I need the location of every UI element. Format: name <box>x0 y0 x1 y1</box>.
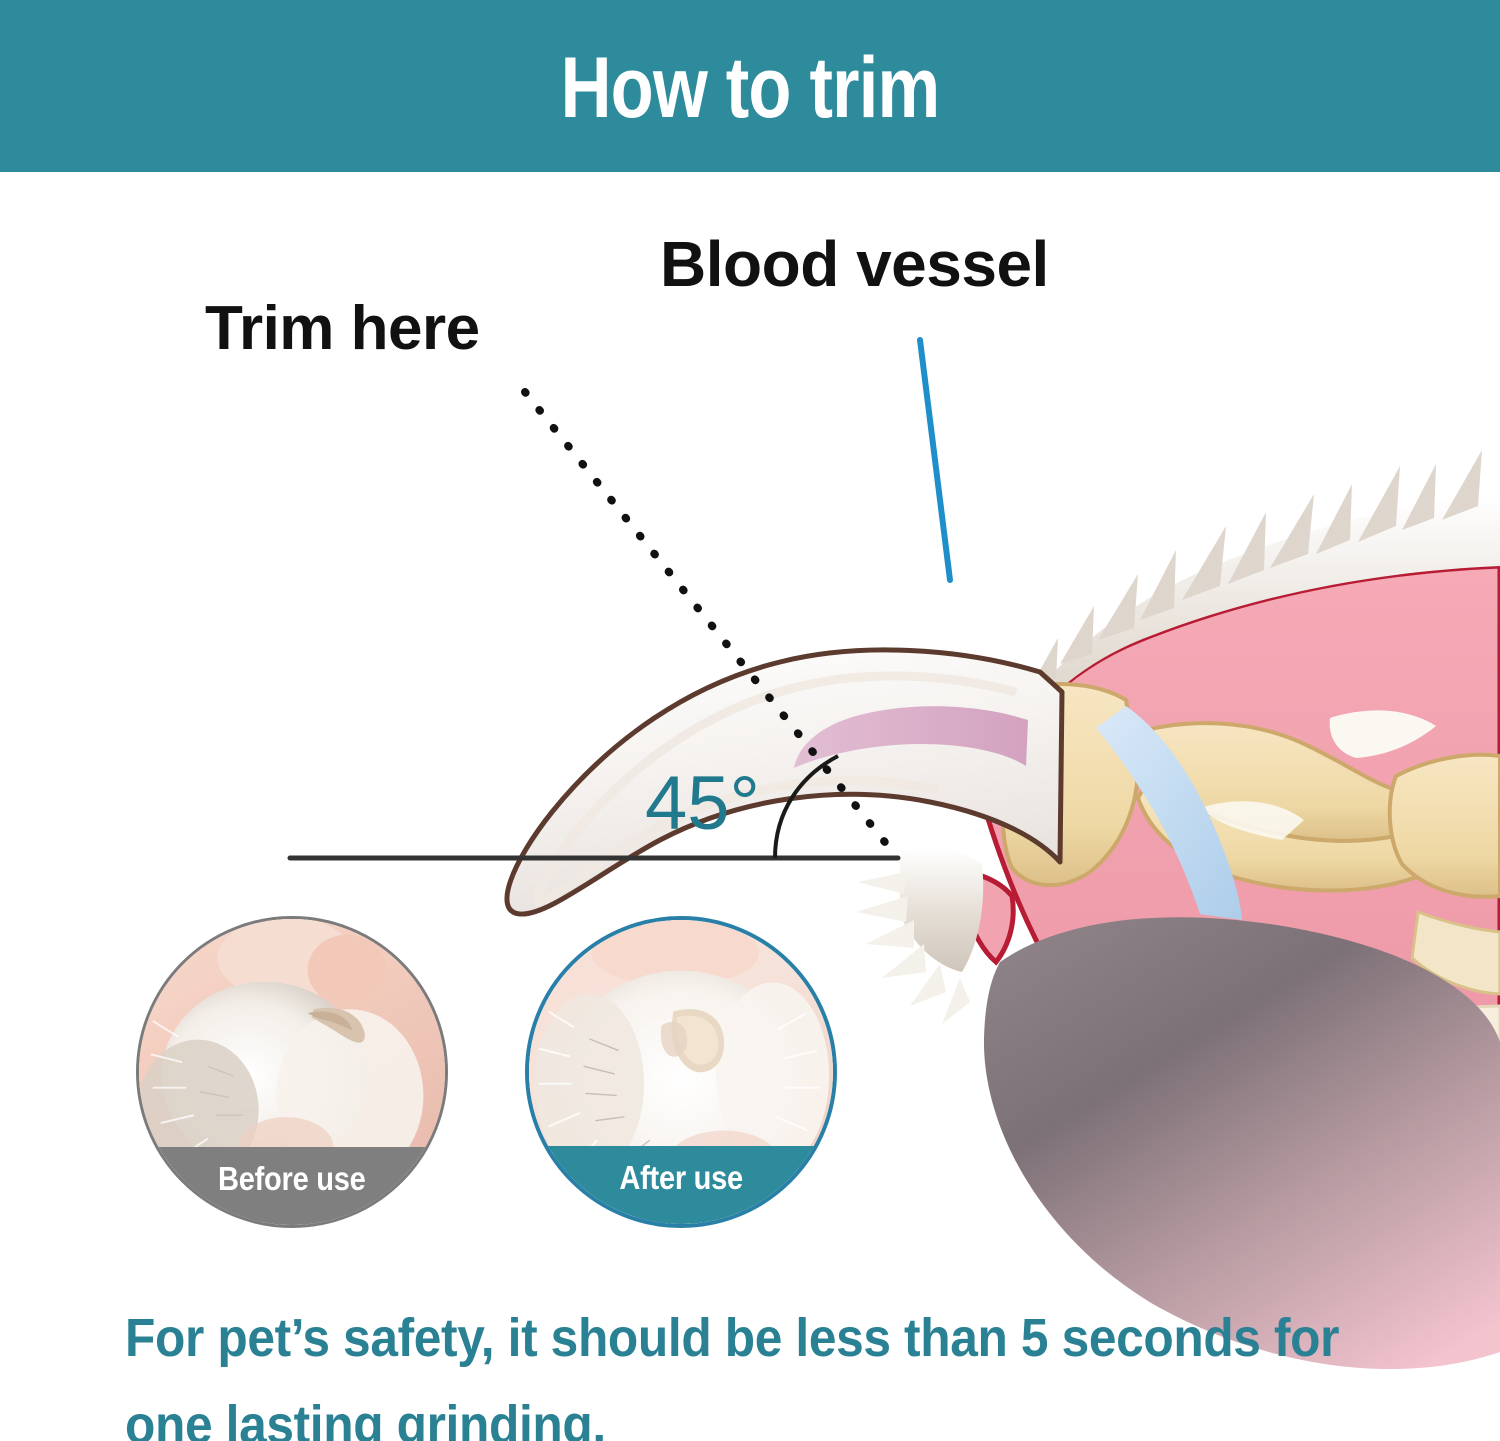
how-to-trim-infographic: How to trim <box>0 0 1500 1441</box>
label-blood-vessel: Blood vessel <box>660 232 1049 296</box>
footer-caption-line-1: For pet’s safety, it should be less than… <box>125 1295 1339 1382</box>
label-angle-45-degrees: 45° <box>645 766 760 842</box>
photo-after-use: After use <box>525 916 837 1228</box>
footer-safety-caption: For pet’s safety, it should be less than… <box>125 1295 1445 1441</box>
claw-base-fur <box>856 848 983 1024</box>
claw-anatomy-diagram: Trim here Blood vessel 45° <box>0 172 1500 1441</box>
photo-before-use: Before use <box>136 916 448 1228</box>
footer-caption-line-2: one lasting grinding. <box>125 1382 1339 1441</box>
photo-caption-band-before: Before use <box>139 1147 445 1225</box>
page-title: How to trim <box>561 45 940 131</box>
photo-caption-before-use: Before use <box>218 1160 365 1198</box>
header-banner: How to trim <box>0 0 1500 172</box>
label-trim-here: Trim here <box>205 298 480 360</box>
photo-caption-after-use: After use <box>619 1159 743 1197</box>
blood-vessel-pointer-line <box>920 340 950 580</box>
photo-caption-band-after: After use <box>529 1146 833 1224</box>
